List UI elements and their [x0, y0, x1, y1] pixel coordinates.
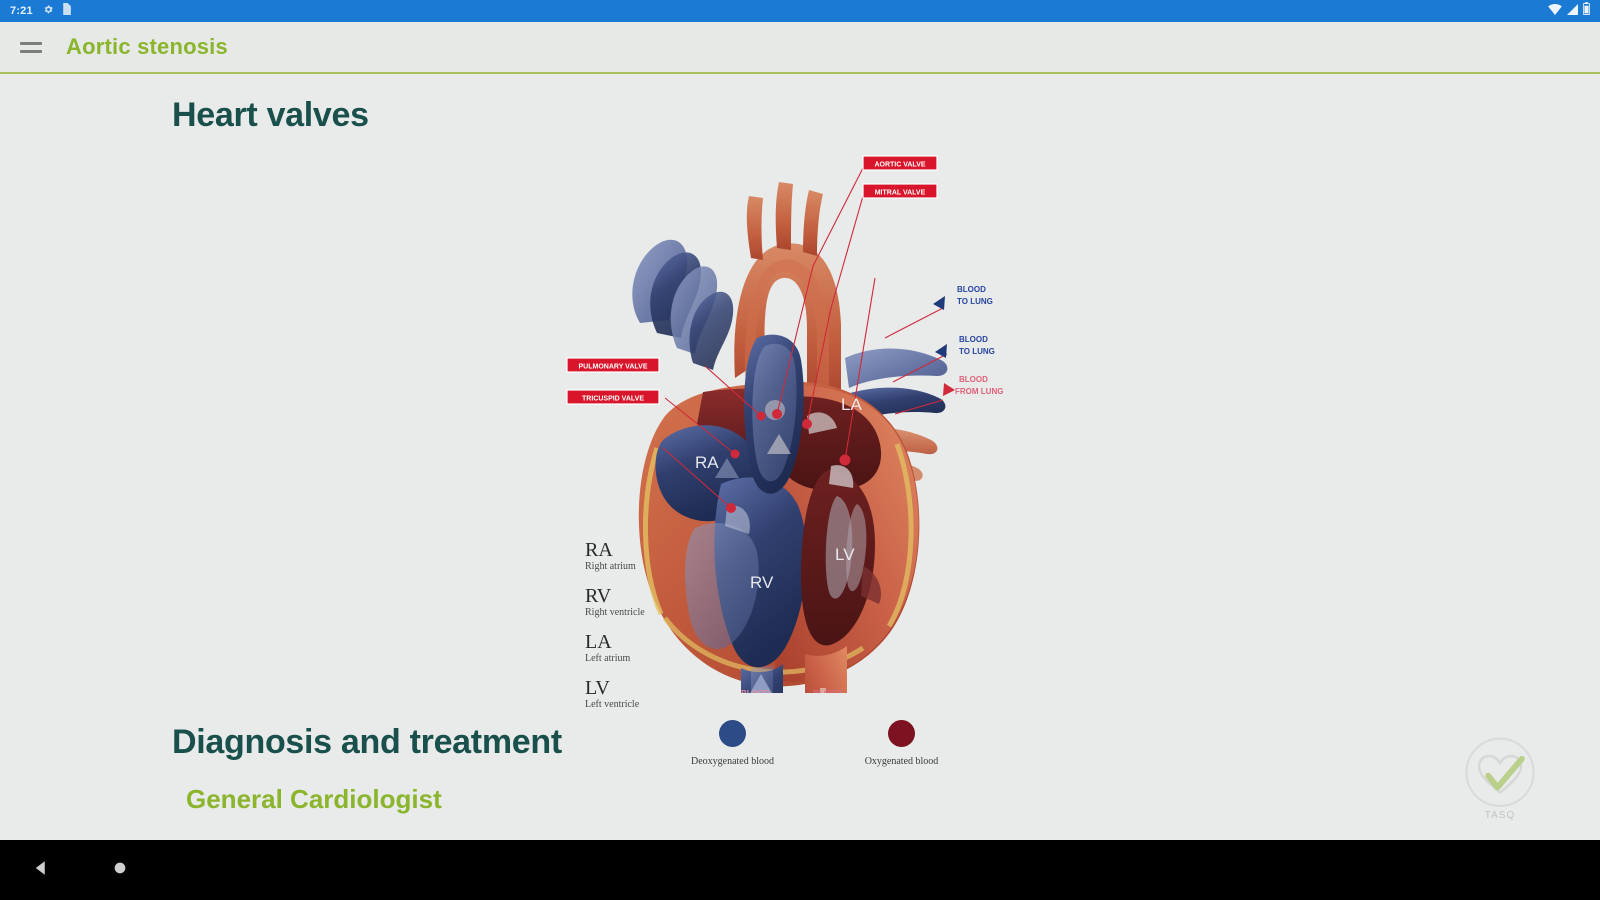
- svg-text:TO LUNG: TO LUNG: [959, 347, 995, 356]
- legend-item-oxygenated: Oxygenated blood: [849, 720, 954, 767]
- legend-item: RA Right atrium: [585, 540, 645, 572]
- svg-text:RA: RA: [695, 453, 719, 472]
- sim-card-icon: [62, 2, 71, 20]
- legend-full-name: Left ventricle: [585, 699, 645, 710]
- legend-abbr: LV: [585, 678, 645, 699]
- heading-heart-valves: Heart valves: [172, 96, 369, 135]
- oxygenated-blood-label: Oxygenated blood: [865, 756, 939, 767]
- hamburger-menu-icon[interactable]: [14, 42, 60, 53]
- abbreviation-legend: RA Right atrium RV Right ventricle LA Le…: [585, 540, 645, 724]
- svg-text:TO LUNG: TO LUNG: [957, 297, 993, 306]
- page-title: Aortic stenosis: [66, 34, 228, 60]
- settings-icon: [43, 2, 54, 20]
- app-watermark-logo: TASQ: [1448, 724, 1552, 828]
- deoxygenated-blood-label: Deoxygenated blood: [691, 756, 774, 767]
- svg-text:BLOOD: BLOOD: [959, 335, 988, 344]
- content-area[interactable]: Heart valves: [0, 76, 1600, 840]
- subheading-general-cardiologist[interactable]: General Cardiologist: [186, 784, 442, 815]
- legend-item: LV Left ventricle: [585, 678, 645, 710]
- wifi-icon: [1548, 2, 1562, 20]
- status-bar-left-icons: [43, 2, 71, 20]
- back-triangle-icon[interactable]: [32, 859, 50, 882]
- svg-text:RV: RV: [750, 573, 774, 592]
- heart-anatomy-diagram: AORTIC VALVE MITRAL VALVE PULMONARY VALV…: [545, 148, 1045, 693]
- signal-icon: [1567, 2, 1578, 20]
- svg-text:BLOOD: BLOOD: [957, 285, 986, 294]
- legend-item-deoxygenated: Deoxygenated blood: [680, 720, 785, 767]
- blood-color-legend: Deoxygenated blood Oxygenated blood: [680, 720, 954, 767]
- svg-text:BLOOD: BLOOD: [813, 689, 842, 693]
- svg-text:FROM LUNG: FROM LUNG: [955, 387, 1003, 396]
- legend-abbr: LA: [585, 632, 645, 653]
- svg-text:MITRAL VALVE: MITRAL VALVE: [875, 190, 926, 197]
- battery-icon: [1583, 2, 1590, 20]
- svg-text:LA: LA: [841, 395, 862, 414]
- svg-text:AORTIC VALVE: AORTIC VALVE: [874, 162, 925, 169]
- heading-diagnosis-and-treatment: Diagnosis and treatment: [172, 723, 562, 762]
- svg-text:BLOOD: BLOOD: [741, 689, 770, 693]
- legend-full-name: Right atrium: [585, 561, 645, 572]
- svg-text:PULMONARY VALVE: PULMONARY VALVE: [579, 364, 648, 371]
- status-bar: 7:21: [0, 0, 1600, 22]
- home-circle-icon[interactable]: [112, 860, 128, 881]
- hamburger-line: [20, 42, 42, 45]
- legend-full-name: Left atrium: [585, 653, 645, 664]
- svg-text:TRICUSPID VALVE: TRICUSPID VALVE: [582, 396, 644, 403]
- hamburger-line: [20, 50, 42, 53]
- app-toolbar: Aortic stenosis: [0, 22, 1600, 74]
- legend-abbr: RA: [585, 540, 645, 561]
- heart-check-icon: [1458, 732, 1542, 816]
- legend-full-name: Right ventricle: [585, 607, 645, 618]
- deoxygenated-blood-swatch: [719, 720, 746, 747]
- legend-item: LA Left atrium: [585, 632, 645, 664]
- watermark-label: TASQ: [1485, 810, 1515, 821]
- svg-text:BLOOD: BLOOD: [959, 375, 988, 384]
- legend-item: RV Right ventricle: [585, 586, 645, 618]
- oxygenated-blood-swatch: [888, 720, 915, 747]
- legend-abbr: RV: [585, 586, 645, 607]
- status-bar-clock: 7:21: [10, 5, 33, 17]
- app-screen: 7:21 Aortic stenosis: [0, 0, 1600, 900]
- status-bar-right-icons: [1548, 2, 1590, 20]
- android-navigation-bar: [0, 840, 1600, 900]
- svg-text:LV: LV: [835, 545, 855, 564]
